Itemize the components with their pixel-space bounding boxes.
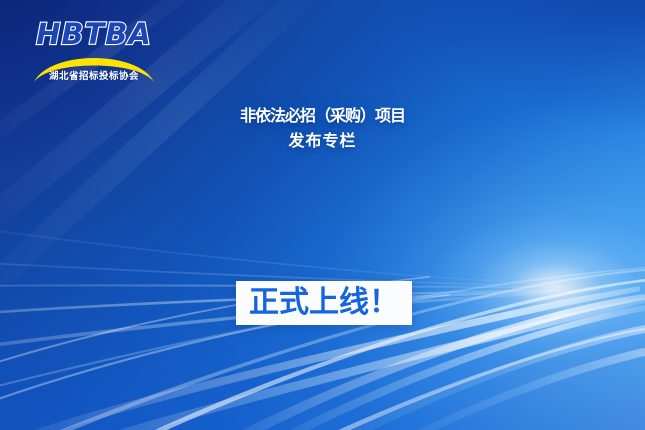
page-title: 非依法必招（采购）项目 发布专栏 xyxy=(0,108,645,150)
status-badge-label: 正式上线！ xyxy=(249,288,399,318)
logo-subtitle: 湖北省招标投标协会 xyxy=(30,68,158,82)
page-title-line-2: 发布专栏 xyxy=(0,133,645,150)
logo-letters: HBTBA xyxy=(30,20,158,49)
promo-banner: HBTBA 湖北省招标投标协会 非依法必招（采购）项目 发布专栏 正式上线！ xyxy=(0,0,645,430)
status-badge: 正式上线！ xyxy=(236,281,412,325)
page-title-line-1: 非依法必招（采购）项目 xyxy=(0,108,645,125)
hbtba-logo: HBTBA 湖北省招标投标协会 xyxy=(30,20,158,86)
